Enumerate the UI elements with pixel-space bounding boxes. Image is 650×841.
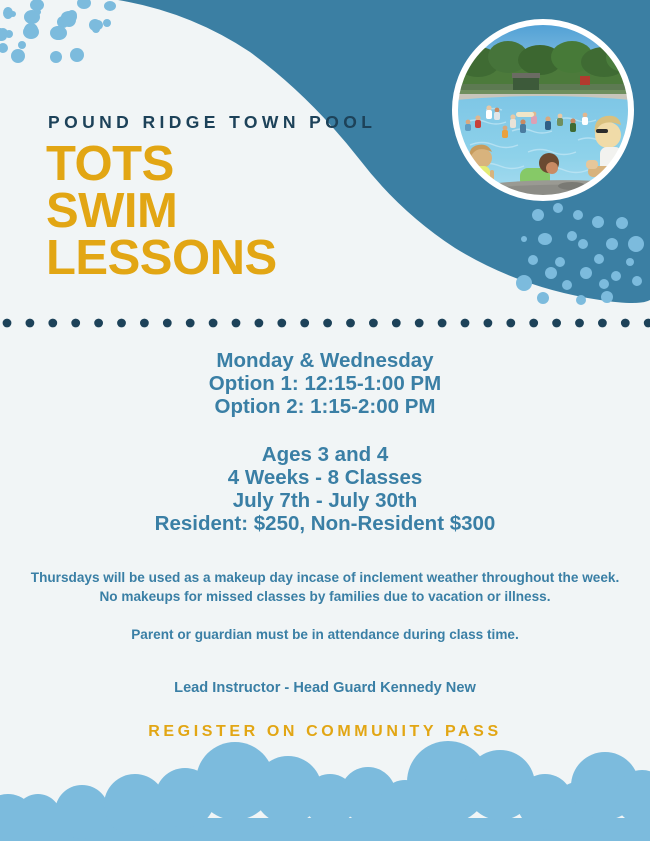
- details-pricing: Resident: $250, Non-Resident $300: [0, 512, 650, 535]
- details-ages: Ages 3 and 4: [0, 443, 650, 466]
- title-line-2: SWIM: [46, 188, 277, 235]
- schedule-block: Monday & Wednesday Option 1: 12:15-1:00 …: [0, 349, 650, 418]
- notes-block: Thursdays will be used as a makeup day i…: [25, 568, 625, 644]
- schedule-option-1: Option 1: 12:15-1:00 PM: [0, 372, 650, 395]
- note-makeup-policy: Thursdays will be used as a makeup day i…: [25, 568, 625, 606]
- page-eyebrow: POUND RIDGE TOWN POOL: [48, 112, 376, 133]
- schedule-option-2: Option 2: 1:15-2:00 PM: [0, 395, 650, 418]
- note-spacer: [25, 606, 625, 625]
- title-line-3: LESSONS: [46, 235, 277, 282]
- note-instructor: Lead Instructor - Head Guard Kennedy New: [0, 680, 650, 696]
- details-block: Ages 3 and 4 4 Weeks - 8 Classes July 7t…: [0, 443, 650, 535]
- page-title: TOTS SWIM LESSONS: [46, 141, 277, 282]
- details-dates: July 7th - July 30th: [0, 489, 650, 512]
- schedule-days: Monday & Wednesday: [0, 349, 650, 372]
- register-callout: REGISTER ON COMMUNITY PASS: [0, 723, 650, 741]
- details-duration: 4 Weeks - 8 Classes: [0, 466, 650, 489]
- note-attendance: Parent or guardian must be in attendance…: [25, 625, 625, 644]
- flyer-poster: POUND RIDGE TOWN POOL TOTS SWIM LESSONS …: [0, 0, 650, 841]
- title-line-1: TOTS: [46, 141, 277, 188]
